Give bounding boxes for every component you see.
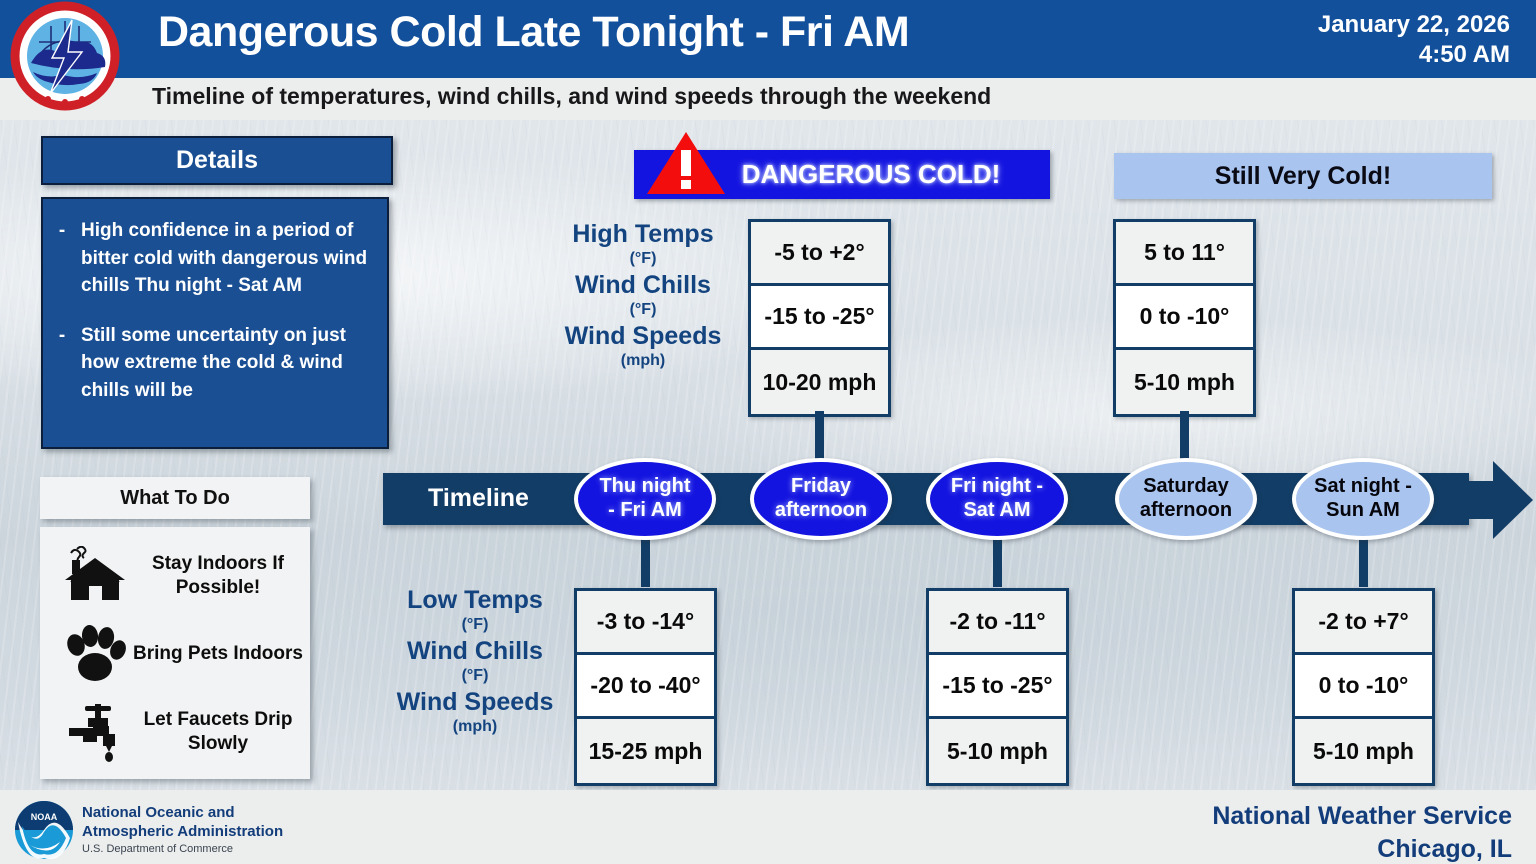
period-line2: Sun AM xyxy=(1326,499,1400,521)
what-to-do-label: Bring Pets Indoors xyxy=(132,642,310,666)
high-temps-label: High Temps xyxy=(534,222,752,247)
lower-wind-speeds-unit: (mph) xyxy=(366,719,584,735)
period-text: Saturday afternoon xyxy=(1140,475,1232,522)
bullet-text: Still some uncertainty on just how extre… xyxy=(81,322,373,405)
upper-wind-chills-unit: (°F) xyxy=(534,302,752,318)
office-name: National Weather Service xyxy=(1212,800,1512,833)
office-location: Chicago, IL xyxy=(1212,833,1512,864)
fri-night-values: -2 to -11° -15 to -25° 5-10 mph xyxy=(926,588,1069,786)
upper-wind-speeds-unit: (mph) xyxy=(534,353,752,369)
upper-wind-chills-label: Wind Chills xyxy=(534,273,752,298)
period-line2: - Fri AM xyxy=(608,499,682,521)
warning-triangle-icon xyxy=(645,130,727,196)
high-temps-unit: (°F) xyxy=(534,251,752,267)
bullet-dash: - xyxy=(43,322,81,405)
what-to-do-label: Let Faucets Drip Slowly xyxy=(132,708,310,756)
lower-wind-speeds-label: Wind Speeds xyxy=(366,690,584,715)
noaa-line-1: National Oceanic and xyxy=(82,804,283,823)
saturday-afternoon-values: 5 to 11° 0 to -10° 5-10 mph xyxy=(1113,219,1256,417)
fri-night-low-temp-cell: -2 to -11° xyxy=(929,591,1066,655)
right-arrow-icon xyxy=(1437,455,1535,545)
noaa-agency-name: National Oceanic and Atmospheric Adminis… xyxy=(82,804,283,842)
period-text: Thu night - Fri AM xyxy=(599,475,690,522)
noaa-line-2: Atmospheric Administration xyxy=(82,823,283,842)
dangerous-cold-label: DANGEROUS COLD! xyxy=(684,159,1001,190)
low-temps-label: Low Temps xyxy=(366,588,584,613)
period-line2: Sat AM xyxy=(963,499,1030,521)
period-text: Fri night - Sat AM xyxy=(951,475,1043,522)
sat-night-wind-chill-cell: 0 to -10° xyxy=(1295,655,1432,719)
noaa-seal-icon: NOAA xyxy=(14,800,74,860)
timeline-period-sat-night[interactable]: Sat night - Sun AM xyxy=(1292,458,1434,540)
friday-high-temp-cell: -5 to +2° xyxy=(751,222,888,286)
what-to-do-body: Stay Indoors If Possible! Bring Pets Ind… xyxy=(40,527,310,779)
fri-night-wind-speed-cell: 5-10 mph xyxy=(929,719,1066,783)
what-to-do-item: Bring Pets Indoors xyxy=(40,615,310,693)
timeline-period-friday-afternoon[interactable]: Friday afternoon xyxy=(750,458,892,540)
period-text: Sat night - Sun AM xyxy=(1314,475,1412,522)
thu-night-wind-speed-cell: 15-25 mph xyxy=(577,719,714,783)
detail-bullet: - Still some uncertainty on just how ext… xyxy=(43,322,373,405)
what-to-do-title: What To Do xyxy=(120,487,230,510)
thu-night-wind-chill-cell: -20 to -40° xyxy=(577,655,714,719)
fri-night-wind-chill-cell: -15 to -25° xyxy=(929,655,1066,719)
national-weather-service-seal-icon xyxy=(6,0,124,112)
still-very-cold-label: Still Very Cold! xyxy=(1215,162,1391,191)
friday-afternoon-values: -5 to +2° -15 to -25° 10-20 mph xyxy=(748,219,891,417)
timeline-period-saturday-afternoon[interactable]: Saturday afternoon xyxy=(1115,458,1257,540)
saturday-high-temp-cell: 5 to 11° xyxy=(1116,222,1253,286)
friday-wind-chill-cell: -15 to -25° xyxy=(751,286,888,350)
period-line2: afternoon xyxy=(1140,499,1232,521)
lower-row-labels: Low Temps (°F) Wind Chills (°F) Wind Spe… xyxy=(366,588,584,741)
header-datetime: January 22, 2026 4:50 AM xyxy=(1318,10,1510,70)
details-panel-body: - High confidence in a period of bitter … xyxy=(41,197,389,449)
details-panel-title: Details xyxy=(176,146,258,175)
sat-night-values: -2 to +7° 0 to -10° 5-10 mph xyxy=(1292,588,1435,786)
infographic-canvas: Dangerous Cold Late Tonight - Fri AM Jan… xyxy=(0,0,1536,864)
lower-wind-chills-unit: (°F) xyxy=(366,668,584,684)
period-line1: Thu night xyxy=(599,475,690,497)
period-line1: Fri night - xyxy=(951,475,1043,497)
thu-night-values: -3 to -14° -20 to -40° 15-25 mph xyxy=(574,588,717,786)
period-line1: Sat night - xyxy=(1314,475,1412,497)
saturday-wind-chill-cell: 0 to -10° xyxy=(1116,286,1253,350)
subtitle: Timeline of temperatures, wind chills, a… xyxy=(152,83,991,110)
detail-bullet: - High confidence in a period of bitter … xyxy=(43,217,373,300)
office-identification: National Weather Service Chicago, IL xyxy=(1212,800,1512,864)
page-title: Dangerous Cold Late Tonight - Fri AM xyxy=(158,8,909,57)
upper-row-labels: High Temps (°F) Wind Chills (°F) Wind Sp… xyxy=(534,222,752,375)
timeline-period-thu-night[interactable]: Thu night - Fri AM xyxy=(574,458,716,540)
saturday-wind-speed-cell: 5-10 mph xyxy=(1116,350,1253,414)
what-to-do-item: Let Faucets Drip Slowly xyxy=(40,693,310,771)
timeline-period-fri-night[interactable]: Fri night - Sat AM xyxy=(926,458,1068,540)
sat-night-low-temp-cell: -2 to +7° xyxy=(1295,591,1432,655)
lower-wind-chills-label: Wind Chills xyxy=(366,639,584,664)
what-to-do-label: Stay Indoors If Possible! xyxy=(132,552,310,600)
low-temps-unit: (°F) xyxy=(366,617,584,633)
details-panel-header: Details xyxy=(41,136,393,185)
still-very-cold-banner: Still Very Cold! xyxy=(1114,153,1492,199)
what-to-do-header: What To Do xyxy=(40,477,310,519)
bullet-text: High confidence in a period of bitter co… xyxy=(81,217,373,300)
period-line2: afternoon xyxy=(775,499,867,521)
period-line1: Friday xyxy=(791,475,851,497)
friday-wind-speed-cell: 10-20 mph xyxy=(751,350,888,414)
upper-wind-speeds-label: Wind Speeds xyxy=(534,324,752,349)
svg-text:NOAA: NOAA xyxy=(31,812,58,822)
house-with-smoking-chimney-icon xyxy=(58,546,132,606)
noaa-department-line: U.S. Department of Commerce xyxy=(82,843,233,855)
thu-night-low-temp-cell: -3 to -14° xyxy=(577,591,714,655)
header-date: January 22, 2026 xyxy=(1318,10,1510,40)
sat-night-wind-speed-cell: 5-10 mph xyxy=(1295,719,1432,783)
period-line1: Saturday xyxy=(1143,475,1229,497)
bullet-dash: - xyxy=(43,217,81,300)
paw-print-icon xyxy=(58,625,132,683)
timeline-label: Timeline xyxy=(428,484,529,513)
period-text: Friday afternoon xyxy=(775,475,867,522)
faucet-dripping-icon xyxy=(58,702,132,762)
header-time: 4:50 AM xyxy=(1318,40,1510,70)
what-to-do-item: Stay Indoors If Possible! xyxy=(40,537,310,615)
